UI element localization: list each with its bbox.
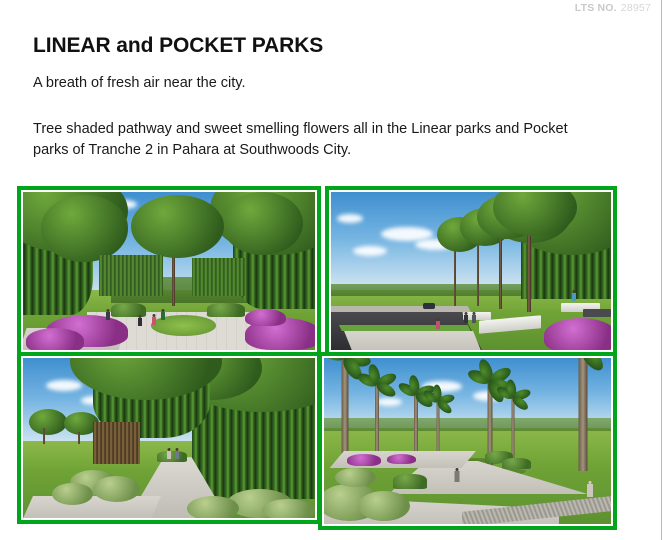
scene-roadside-linear-park: [331, 192, 611, 350]
page-subtitle: A breath of fresh air near the city.: [33, 75, 246, 91]
lts-number-label: LTS NO.: [575, 2, 617, 14]
lts-number-value: 28957: [621, 2, 651, 14]
image-frame: [322, 356, 613, 526]
page-body-text: Tree shaded pathway and sweet smelling f…: [33, 119, 581, 161]
document-page: LTS NO. 28957 LINEAR and POCKET PARKS A …: [0, 0, 662, 540]
scene-palm-pocket-park: [324, 358, 611, 524]
image-frame: [21, 356, 317, 520]
scene-linear-park-tree-alley: [23, 192, 315, 350]
page-title: LINEAR and POCKET PARKS: [33, 34, 323, 58]
document-header: LTS NO. 28957: [575, 1, 651, 15]
image-frame: [21, 190, 317, 352]
park-image-gallery: [17, 186, 617, 530]
image-frame: [329, 190, 613, 352]
gallery-image-bottom-right[interactable]: [318, 352, 617, 530]
gallery-image-top-right[interactable]: [325, 186, 617, 356]
gallery-image-bottom-left[interactable]: [17, 352, 321, 524]
gallery-image-top-left[interactable]: [17, 186, 321, 356]
scene-bamboo-grove-pathway: [23, 358, 315, 518]
